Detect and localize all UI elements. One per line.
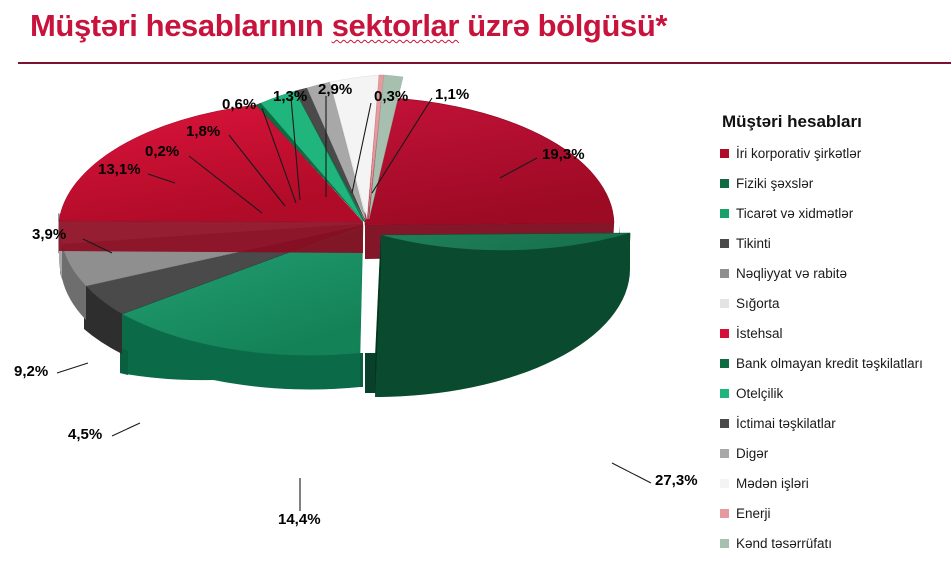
legend-item-ticaret-xidmetler[interactable]: Ticarət və xidmətlər [716,205,951,222]
legend-swatch-icon [720,419,729,428]
legend-swatch-icon [720,359,729,368]
pct-label-0-3: 0,3% [374,88,408,105]
pct-label-14-4: 14,4% [278,511,321,528]
pct-label-2-9: 2,9% [318,81,352,98]
legend-item-iri-korporativ[interactable]: İri korporativ şirkətlər [716,145,951,162]
pie-chart-svg [0,63,700,563]
legend-swatch-icon [720,539,729,548]
pct-label-1-3: 1,3% [273,88,307,105]
chart-page: Müştəri hesablarının sektorlar üzrə bölg… [0,0,951,563]
pct-label-0-6: 0,6% [222,96,256,113]
pct-label-19-3: 19,3% [542,146,585,163]
legend-swatch-icon [720,239,729,248]
pct-label-3-9: 3,9% [32,226,66,243]
legend-swatch-icon [720,479,729,488]
legend-item-label: İri korporativ şirkətlər [736,147,861,161]
legend-item-label: İstehsal [736,327,783,341]
legend-item-label: Enerji [736,507,771,521]
legend-item-ictimai-teskilatlar[interactable]: İctimai təşkilatlar [716,415,951,432]
legend-item-fiziki-sexsler[interactable]: Fiziki şəxslər [716,175,951,192]
legend-item-tikinti[interactable]: Tikinti [716,235,951,252]
legend-item-label: Digər [736,447,768,461]
pct-label-4-5: 4,5% [68,426,102,443]
legend-item-label: Ticarət və xidmətlər [736,207,853,221]
legend-title: Müştəri hesabları [722,112,951,132]
legend-item-label: İctimai təşkilatlar [736,417,836,431]
pct-label-0-2: 0,2% [145,143,179,160]
legend-swatch-icon [720,389,729,398]
legend-swatch-icon [720,209,729,218]
legend-item-meden-isleri[interactable]: Mədən işləri [716,475,951,492]
page-header: Müştəri hesablarının sektorlar üzrə bölg… [0,0,951,63]
legend-swatch-icon [720,149,729,158]
page-title: Müştəri hesablarının sektorlar üzrə bölg… [30,8,667,44]
title-text-a: Müştəri hesablarının [30,8,332,43]
legend-item-label: Fiziki şəxslər [736,177,813,191]
legend-item-label: Kənd təsərrüfatı [736,537,832,551]
legend-swatch-icon [720,269,729,278]
chart-legend: Müştəri hesabları İri korporativ şirkətl… [716,112,951,565]
title-text-underlined: sektorlar [332,8,459,43]
legend-item-neqliyyat-rabite[interactable]: Nəqliyyat və rabitə [716,265,951,282]
pct-label-13-1: 13,1% [98,161,141,178]
pct-label-27-3: 27,3% [655,472,698,489]
legend-item-label: Tikinti [736,237,771,251]
pct-label-1-1: 1,1% [435,86,469,103]
legend-item-otelcilik[interactable]: Otelçilik [716,385,951,402]
legend-item-label: Otelçilik [736,387,783,401]
pie-chart: 13,1% 3,9% 9,2% 4,5% 14,4% 0,2% 1,8% 0,6… [0,63,700,563]
title-text-b: üzrə bölgüsü* [459,8,667,43]
legend-item-kend-teserrufati[interactable]: Kənd təsərrüfatı [716,535,951,552]
legend-item-label: Nəqliyyat və rabitə [736,267,847,281]
pct-label-9-2: 9,2% [14,363,48,380]
legend-swatch-icon [720,179,729,188]
legend-swatch-icon [720,509,729,518]
legend-swatch-icon [720,449,729,458]
legend-item-label: Mədən işləri [736,477,809,491]
legend-item-diger[interactable]: Digər [716,445,951,462]
legend-item-istehsal[interactable]: İstehsal [716,325,951,342]
pct-label-1-8: 1,8% [186,123,220,140]
legend-swatch-icon [720,329,729,338]
legend-item-label: Bank olmayan kredit təşkilatları [736,357,923,371]
legend-item-label: Sığorta [736,297,780,311]
legend-item-sigorta[interactable]: Sığorta [716,295,951,312]
pie-slice-tops [59,75,630,397]
legend-swatch-icon [720,299,729,308]
legend-item-enerji[interactable]: Enerji [716,505,951,522]
legend-item-bank-olmayan[interactable]: Bank olmayan kredit təşkilatları [716,355,951,372]
